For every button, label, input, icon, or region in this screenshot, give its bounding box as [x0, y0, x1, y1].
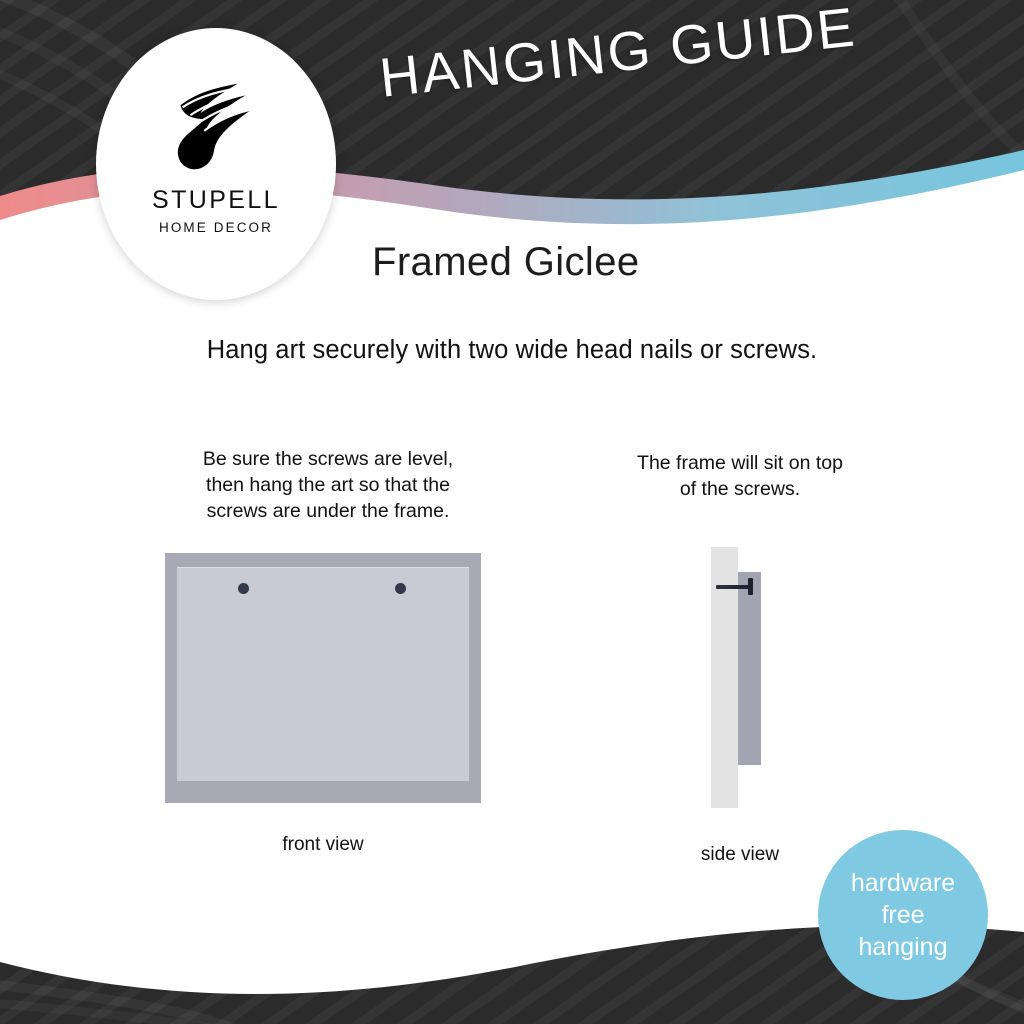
hanging-guide-page: STUPELL HOME DECOR HANGING GUIDE Framed …: [0, 0, 1024, 1024]
front-view-instructions: Be sure the screws are level, then hang …: [156, 446, 500, 524]
front-instruction-line-3: screws are under the frame.: [156, 498, 500, 524]
side-instruction-line-2: of the screws.: [590, 476, 890, 502]
front-view-mat: [177, 567, 469, 781]
front-instruction-line-2: then hang the art so that the: [156, 472, 500, 498]
side-instruction-line-1: The frame will sit on top: [590, 450, 890, 476]
hardware-free-hanging-badge: hardware free hanging: [818, 830, 988, 1000]
side-view-frame: [738, 572, 761, 765]
lead-instruction: Hang art securely with two wide head nai…: [0, 336, 1024, 365]
front-instruction-line-1: Be sure the screws are level,: [156, 446, 500, 472]
side-view-nail-head-icon: [748, 578, 753, 595]
badge-line-3: hanging: [859, 931, 948, 963]
front-view-label: front view: [165, 834, 481, 856]
product-title: Framed Giclee: [372, 240, 640, 285]
brand-tagline: HOME DECOR: [159, 220, 273, 235]
badge-line-2: free: [881, 899, 924, 931]
brand-logo-badge: STUPELL HOME DECOR: [96, 28, 336, 300]
brand-name: STUPELL: [152, 186, 280, 215]
side-view-instructions: The frame will sit on top of the screws.: [590, 450, 890, 502]
screw-dot-left: [238, 583, 249, 594]
screw-dot-right: [395, 583, 406, 594]
front-view-frame: [165, 553, 481, 803]
page-title: HANGING GUIDE: [377, 0, 860, 110]
side-view-label: side view: [660, 844, 820, 866]
side-view-nail-icon: [716, 585, 752, 589]
badge-line-1: hardware: [851, 867, 955, 899]
stupell-swoosh-logo-icon: [157, 62, 275, 180]
